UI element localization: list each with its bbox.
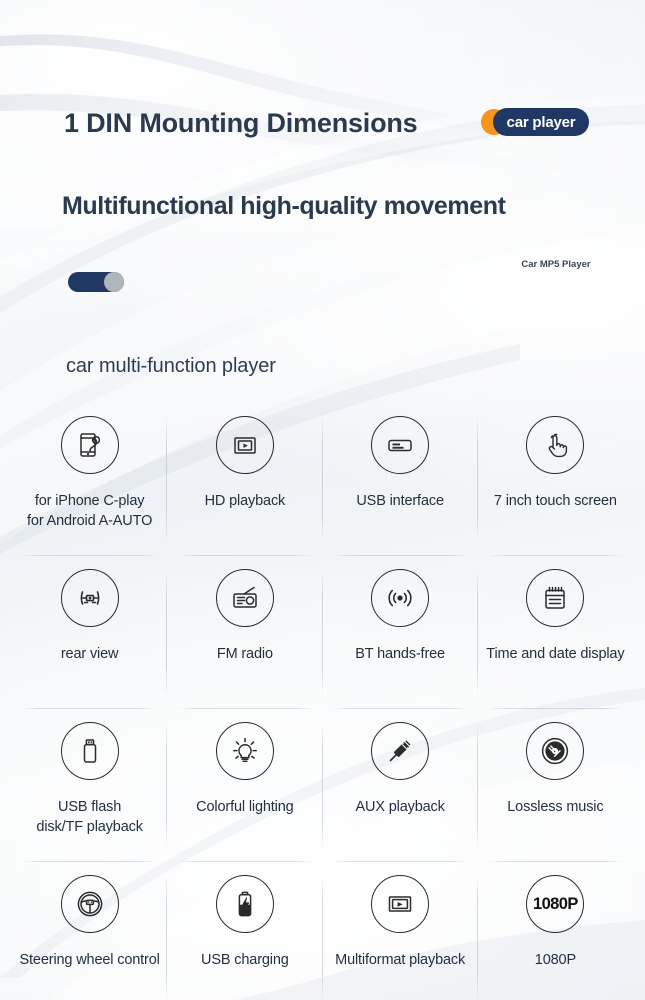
decorative-toggle: [68, 272, 124, 292]
feature-label: USB interface: [356, 491, 444, 511]
resolution-1080p-icon: 1080P: [526, 875, 584, 933]
bluetooth-waves-icon: [371, 569, 429, 627]
hd-video-play-icon: [216, 416, 274, 474]
feature-item-usb-flash: USB flash disk/TF playback: [12, 708, 167, 861]
feature-item-colorful-lighting: Colorful lighting: [167, 708, 322, 861]
feature-item-touch-screen: 7 inch touch screen: [478, 402, 633, 555]
touch-hand-icon: [526, 416, 584, 474]
logo-label: car player: [493, 108, 589, 136]
feature-item-carplay: for iPhone C-play for Android A-AUTO: [12, 402, 167, 555]
resolution-icon-text: 1080P: [533, 895, 578, 914]
feature-item-steering-control: Steering wheel control: [12, 861, 167, 1000]
steering-wheel-icon: [61, 875, 119, 933]
usb-flash-drive-icon: [61, 722, 119, 780]
feature-label: Steering wheel control: [20, 950, 160, 970]
feature-item-usb-interface: USB interface: [323, 402, 478, 555]
usb-port-icon: [371, 416, 429, 474]
feature-item-multiformat: Multiformat playback: [323, 861, 478, 1000]
feature-item-lossless-music: Lossless music: [478, 708, 633, 861]
product-caption: Car MP5 Player: [510, 258, 602, 272]
feature-label: Lossless music: [507, 797, 603, 817]
page-title: 1 DIN Mounting Dimensions: [64, 104, 444, 142]
fm-radio-icon: [216, 569, 274, 627]
feature-label: FM radio: [217, 644, 273, 664]
feature-label: for iPhone C-play for Android A-AUTO: [27, 491, 152, 531]
feature-label: rear view: [61, 644, 118, 664]
feature-item-aux-playback: AUX playback: [323, 708, 478, 861]
brand-logo: car player: [481, 108, 589, 136]
feature-label: Colorful lighting: [196, 797, 293, 817]
feature-label: USB charging: [201, 950, 289, 970]
toggle-knob: [104, 272, 124, 292]
multiformat-video-icon: [371, 875, 429, 933]
feature-item-bluetooth-handsfree: BT hands-free: [323, 555, 478, 708]
feature-item-1080p: 1080P 1080P: [478, 861, 633, 1000]
light-bulb-icon: [216, 722, 274, 780]
rear-view-camera-icon: [61, 569, 119, 627]
feature-item-hd-playback: HD playback: [167, 402, 322, 555]
feature-label: USB flash disk/TF playback: [36, 797, 142, 837]
feature-item-time-date: Time and date display: [478, 555, 633, 708]
vinyl-disc-icon: [526, 722, 584, 780]
aux-jack-icon: [371, 722, 429, 780]
feature-grid: for iPhone C-play for Android A-AUTO HD …: [12, 402, 633, 1000]
feature-label: AUX playback: [355, 797, 444, 817]
section-title: car multi-function player: [66, 355, 276, 378]
product-infographic-page: 1 DIN Mounting Dimensions Multifunctiona…: [0, 0, 645, 1000]
feature-item-rear-view: rear view: [12, 555, 167, 708]
feature-label: Multiformat playback: [335, 950, 465, 970]
phone-carplay-icon: [61, 416, 119, 474]
feature-label: Time and date display: [486, 644, 624, 664]
feature-label: 1080P: [535, 950, 576, 970]
feature-label: BT hands-free: [355, 644, 445, 664]
page-subtitle: Multifunctional high-quality movement: [62, 191, 506, 221]
feature-label: HD playback: [205, 491, 286, 511]
feature-item-usb-charging: USB charging: [167, 861, 322, 1000]
feature-label: 7 inch touch screen: [494, 491, 617, 511]
battery-charging-icon: [216, 875, 274, 933]
feature-item-fm-radio: FM radio: [167, 555, 322, 708]
calendar-clock-icon: [526, 569, 584, 627]
